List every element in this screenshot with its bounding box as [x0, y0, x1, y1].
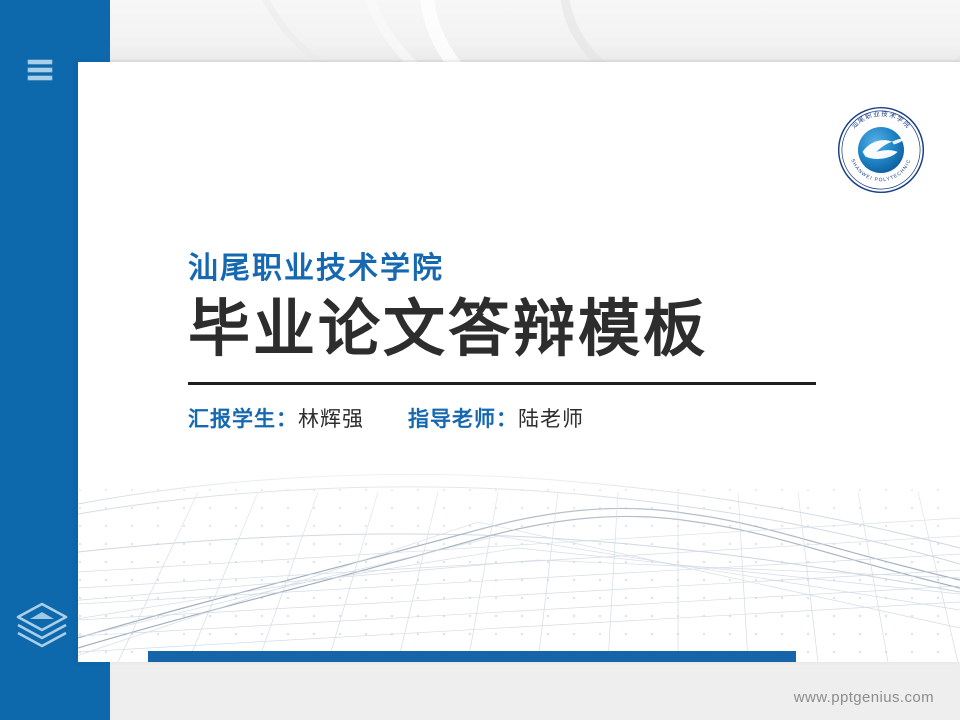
hamburger-bar-2 [28, 68, 52, 72]
student-label: 汇报学生： [188, 408, 298, 431]
slide-preview-app: 汕尾职业技术学院 SHANWEI POLYTECHNIC 汕尾职业技术学院 毕业… [0, 0, 960, 720]
advisor-label: 指导老师： [408, 408, 518, 431]
title-divider [188, 381, 816, 385]
advisor-name: 陆老师 [518, 408, 584, 431]
slide-bottom-accent-bar [148, 651, 796, 662]
background-swoosh-arc-3 [560, 0, 960, 62]
wireframe-mesh-background [78, 452, 960, 662]
hamburger-bar-3 [28, 76, 52, 80]
footer-url: www.pptgenius.com [794, 689, 934, 706]
stacked-layers-icon[interactable] [14, 600, 70, 650]
page-title: 毕业论文答辩模板 [188, 297, 918, 364]
school-name: 汕尾职业技术学院 [188, 252, 918, 285]
title-block: 汕尾职业技术学院 毕业论文答辩模板 汇报学生：林辉强指导老师：陆老师 [188, 252, 918, 432]
slide-canvas: 汕尾职业技术学院 SHANWEI POLYTECHNIC 汕尾职业技术学院 毕业… [78, 62, 960, 662]
student-name: 林辉强 [298, 408, 364, 431]
university-logo: 汕尾职业技术学院 SHANWEI POLYTECHNIC [835, 104, 927, 196]
top-decorative-strip [0, 0, 960, 62]
hamburger-menu-icon[interactable] [24, 57, 56, 85]
hamburger-bar-1 [28, 60, 52, 64]
byline: 汇报学生：林辉强指导老师：陆老师 [188, 407, 918, 432]
